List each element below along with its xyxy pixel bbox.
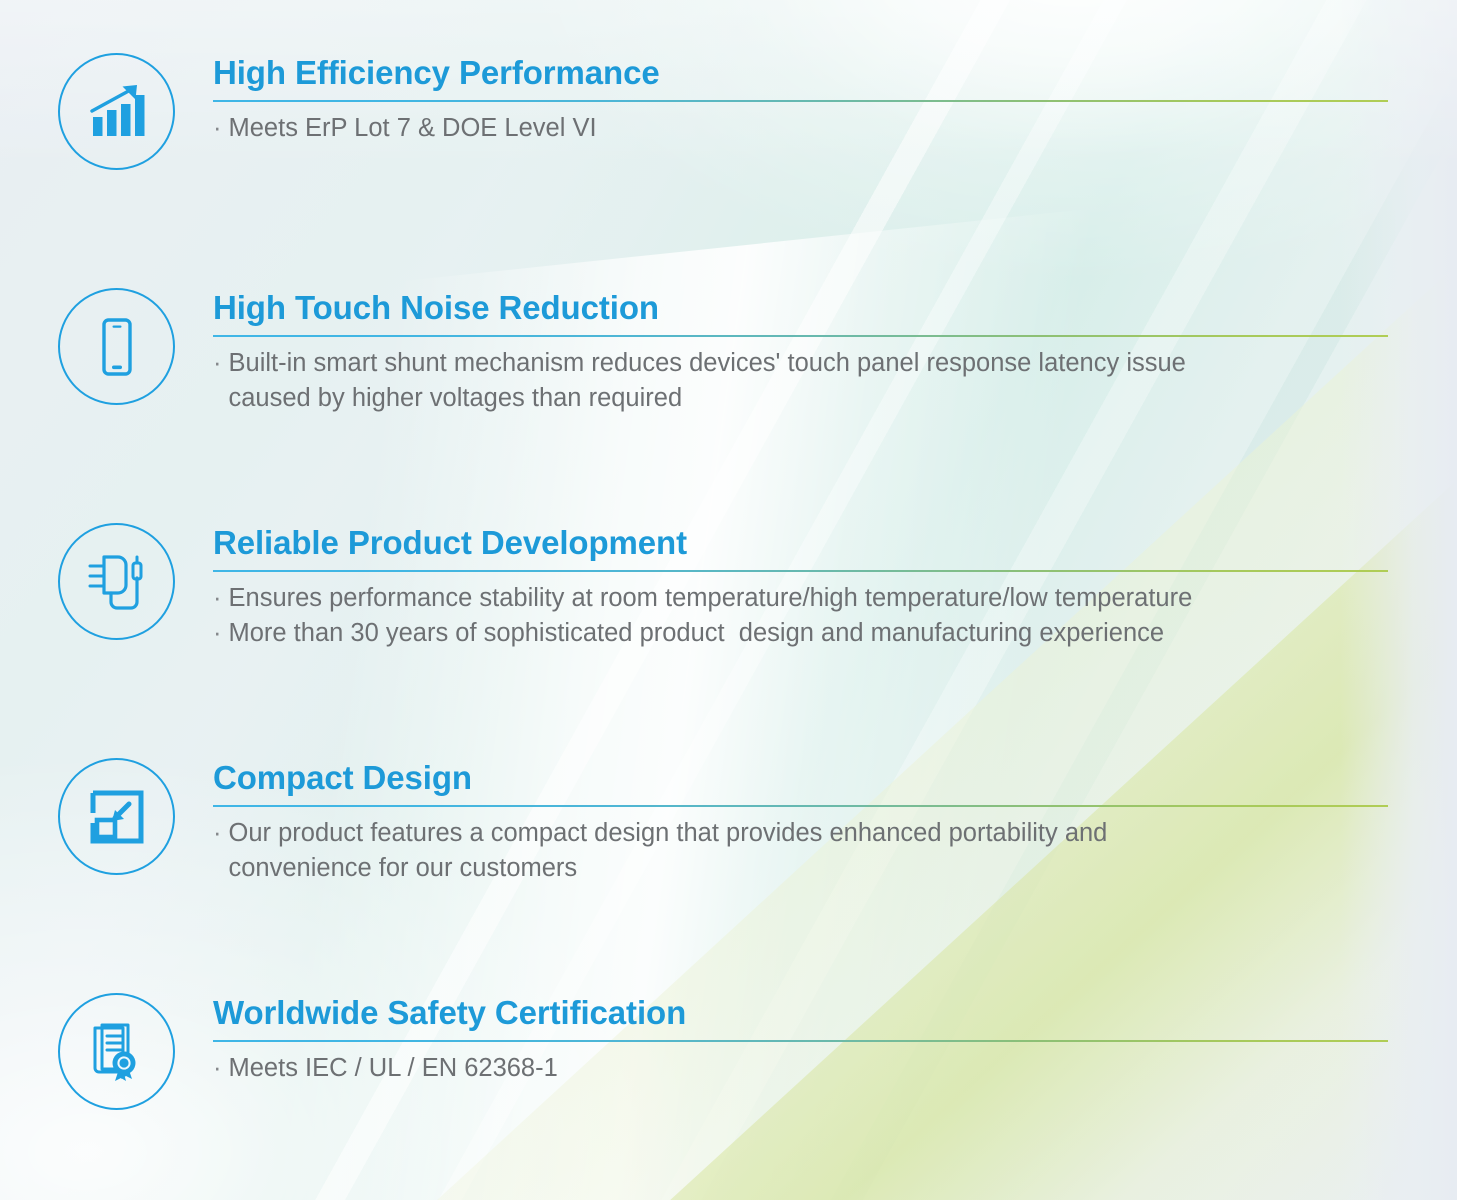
feature-title: Worldwide Safety Certification	[213, 996, 1388, 1031]
feature-lines: · Meets ErP Lot 7 & DOE Level VI	[213, 111, 1388, 146]
icon-ring	[58, 993, 175, 1110]
feature-line: · convenience for our customers	[213, 851, 1388, 886]
feature-divider	[213, 335, 1388, 337]
feature-icon-wrap	[58, 523, 175, 640]
feature-icon-wrap	[58, 288, 175, 405]
feature-line-text: Meets ErP Lot 7 & DOE Level VI	[229, 111, 597, 146]
feature-line: · Built-in smart shunt mechanism reduces…	[213, 346, 1388, 381]
feature-body: Compact Design · Our product features a …	[213, 761, 1388, 886]
feature-line-text: Ensures performance stability at room te…	[229, 581, 1193, 616]
smartphone-icon	[86, 316, 148, 378]
feature-line: · Meets ErP Lot 7 & DOE Level VI	[213, 111, 1388, 146]
icon-ring	[58, 758, 175, 875]
feature-lines: · Built-in smart shunt mechanism reduces…	[213, 346, 1388, 416]
feature-lines: · Ensures performance stability at room …	[213, 581, 1388, 651]
feature-lines: · Meets IEC / UL / EN 62368-1	[213, 1051, 1388, 1086]
feature-line-text: Meets IEC / UL / EN 62368-1	[229, 1051, 558, 1086]
feature-lines: · Our product features a compact design …	[213, 816, 1388, 886]
feature-divider	[213, 570, 1388, 572]
feature-title: Compact Design	[213, 761, 1388, 796]
feature-body: High Touch Noise Reduction · Built-in sm…	[213, 291, 1388, 416]
feature-title: Reliable Product Development	[213, 526, 1388, 561]
feature-divider	[213, 1040, 1388, 1042]
feature-icon-wrap	[58, 993, 175, 1110]
feature-icon-wrap	[58, 758, 175, 875]
power-adapter-icon	[84, 551, 150, 613]
feature-line-text: convenience for our customers	[229, 851, 578, 886]
feature-line: · Meets IEC / UL / EN 62368-1	[213, 1051, 1388, 1086]
feature-divider	[213, 100, 1388, 102]
bullet-marker: ·	[213, 346, 222, 381]
feature-line: · caused by higher voltages than require…	[213, 381, 1388, 416]
icon-ring	[58, 53, 175, 170]
feature-line-text: Built-in smart shunt mechanism reduces d…	[229, 346, 1186, 381]
feature-line-text: More than 30 years of sophisticated prod…	[229, 616, 1165, 651]
bullet-marker: ·	[213, 1051, 222, 1086]
bullet-marker: ·	[213, 111, 222, 146]
feature-line-text: caused by higher voltages than required	[229, 381, 683, 416]
bullet-marker: ·	[213, 581, 222, 616]
feature-body: Worldwide Safety Certification · Meets I…	[213, 996, 1388, 1086]
feature-icon-wrap	[58, 53, 175, 170]
bullet-marker: ·	[213, 616, 222, 651]
icon-ring	[58, 288, 175, 405]
feature-line-text: Our product features a compact design th…	[229, 816, 1108, 851]
icon-ring	[58, 523, 175, 640]
feature-line: · More than 30 years of sophisticated pr…	[213, 616, 1388, 651]
feature-divider	[213, 805, 1388, 807]
compact-resize-icon	[88, 788, 146, 846]
bar-chart-growth-icon	[86, 81, 148, 143]
certificate-award-icon	[86, 1021, 148, 1083]
bullet-marker: ·	[213, 816, 222, 851]
feature-body: High Efficiency Performance · Meets ErP …	[213, 56, 1388, 146]
feature-title: High Efficiency Performance	[213, 56, 1388, 91]
feature-body: Reliable Product Development · Ensures p…	[213, 526, 1388, 651]
feature-list-page: High Efficiency Performance · Meets ErP …	[0, 0, 1457, 1200]
feature-title: High Touch Noise Reduction	[213, 291, 1388, 326]
feature-line: · Our product features a compact design …	[213, 816, 1388, 851]
feature-line: · Ensures performance stability at room …	[213, 581, 1388, 616]
